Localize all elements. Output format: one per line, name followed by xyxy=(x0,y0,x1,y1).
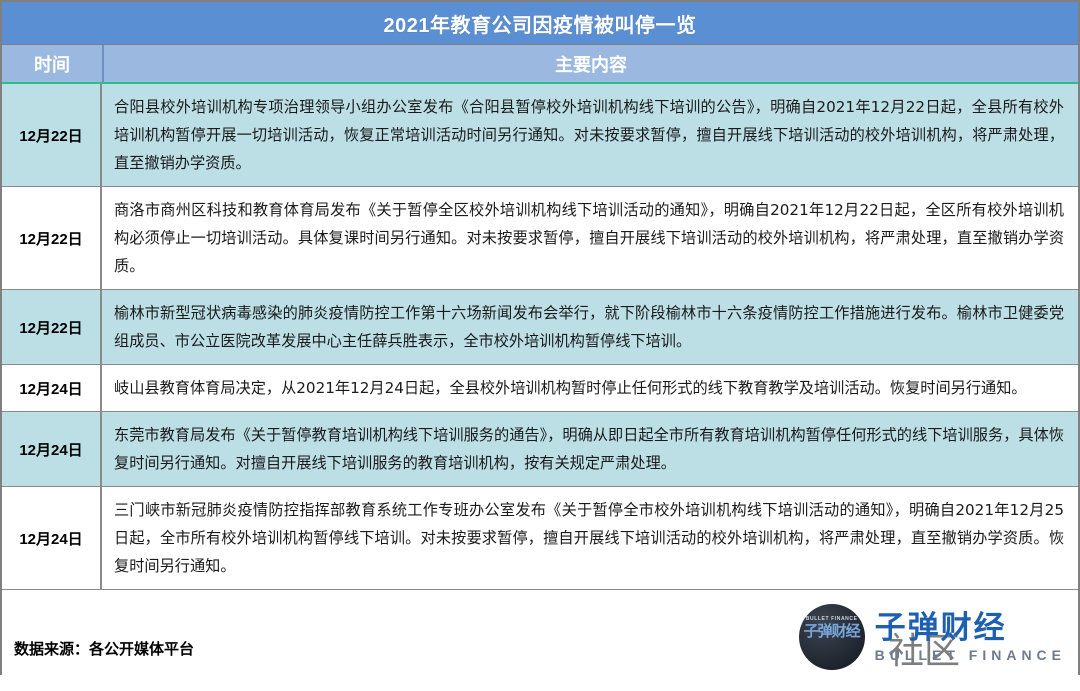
column-header-time: 时间 xyxy=(2,45,104,82)
brand-wordmark: 子弹财经 BULLET FINANCE xyxy=(875,612,1066,662)
cell-time: 12月24日 xyxy=(2,365,102,411)
brand-name-cn: 子弹财经 xyxy=(875,612,1066,643)
table-row: 12月24日东莞市教育局发布《关于暂停教育培训机构线下培训服务的通告》，明确从即… xyxy=(2,412,1078,487)
brand-name-en: BULLET FINANCE xyxy=(875,648,1066,662)
infographic-table: 2021年教育公司因疫情被叫停一览 时间 主要内容 12月22日合阳县校外培训机… xyxy=(0,0,1080,675)
table-row: 12月22日合阳县校外培训机构专项治理领导小组办公室发布《合阳县暂停校外培训机构… xyxy=(2,84,1078,187)
table-row: 12月22日榆林市新型冠状病毒感染的肺炎疫情防控工作第十六场新闻发布会举行，就下… xyxy=(2,290,1078,365)
cell-time: 12月24日 xyxy=(2,412,102,486)
table-row: 12月22日商洛市商州区科技和教育体育局发布《关于暂停全区校外培训机构线下培训活… xyxy=(2,187,1078,290)
cell-content: 东莞市教育局发布《关于暂停教育培训机构线下培训服务的通告》，明确从即日起全市所有… xyxy=(102,412,1078,486)
table-row: 12月24日岐山县教育体育局决定，从2021年12月24日起，全县校外培训机构暂… xyxy=(2,365,1078,412)
table-column-header: 时间 主要内容 xyxy=(2,45,1078,84)
data-source-label: 数据来源：各公开媒体平台 xyxy=(14,638,194,659)
column-header-content: 主要内容 xyxy=(104,45,1078,82)
cell-content: 合阳县校外培训机构专项治理领导小组办公室发布《合阳县暂停校外培训机构线下培训的公… xyxy=(102,84,1078,186)
table-row: 12月24日三门峡市新冠肺炎疫情防控指挥部教育系统工作专班办公室发布《关于暂停全… xyxy=(2,487,1078,590)
cell-content: 榆林市新型冠状病毒感染的肺炎疫情防控工作第十六场新闻发布会举行，就下阶段榆林市十… xyxy=(102,290,1078,364)
cell-time: 12月24日 xyxy=(2,487,102,589)
brand-badge-cn-text: 子弹财经 xyxy=(799,624,865,639)
brand-badge-top-text: BULLET FINANCE xyxy=(799,616,865,622)
brand-logo: BULLET FINANCE 子弹财经 子弹财经 BULLET FINANCE xyxy=(799,604,1066,670)
brand-badge-icon: BULLET FINANCE 子弹财经 xyxy=(799,604,865,670)
cell-time: 12月22日 xyxy=(2,290,102,364)
cell-time: 12月22日 xyxy=(2,187,102,289)
cell-content: 岐山县教育体育局决定，从2021年12月24日起，全县校外培训机构暂时停止任何形… xyxy=(102,365,1078,411)
title-bar: 2021年教育公司因疫情被叫停一览 xyxy=(2,2,1078,45)
footer: 数据来源：各公开媒体平台 社区 BULLET FINANCE 子弹财经 子弹财经… xyxy=(2,590,1078,691)
page-title: 2021年教育公司因疫情被叫停一览 xyxy=(384,9,697,38)
table-body: 12月22日合阳县校外培训机构专项治理领导小组办公室发布《合阳县暂停校外培训机构… xyxy=(2,84,1078,590)
cell-content: 商洛市商州区科技和教育体育局发布《关于暂停全区校外培训机构线下培训活动的通知》，… xyxy=(102,187,1078,289)
cell-content: 三门峡市新冠肺炎疫情防控指挥部教育系统工作专班办公室发布《关于暂停全市校外培训机… xyxy=(102,487,1078,589)
cell-time: 12月22日 xyxy=(2,84,102,186)
